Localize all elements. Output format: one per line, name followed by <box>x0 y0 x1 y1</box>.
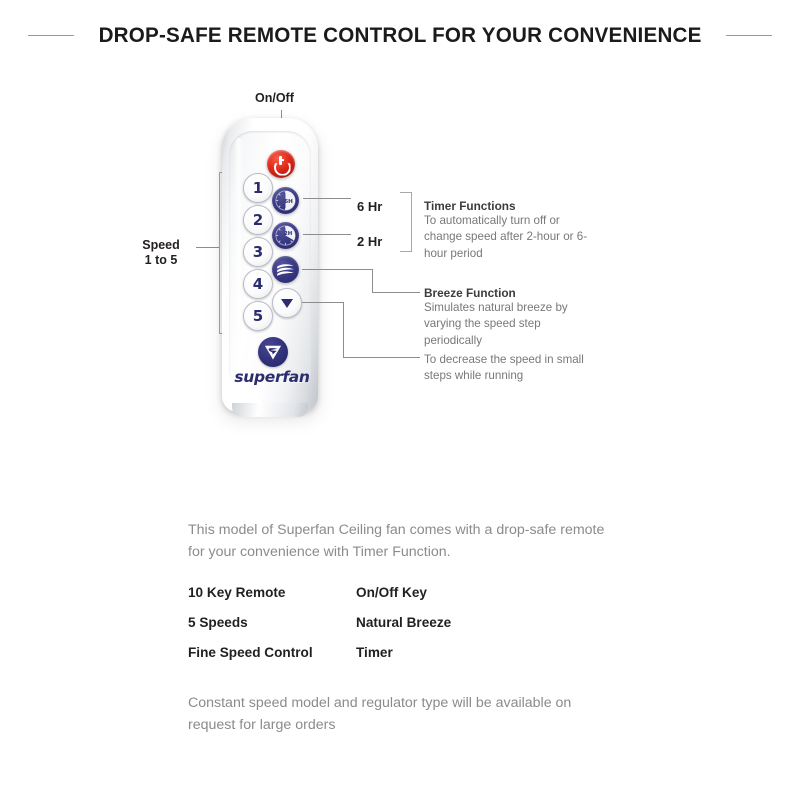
label-timer-2hr: 2 Hr <box>357 234 382 249</box>
label-timer-6hr: 6 Hr <box>357 199 382 214</box>
body-timer-functions: To automatically turn off or change spee… <box>424 213 592 262</box>
clock-2h-icon: 2H <box>275 225 296 246</box>
breeze-button[interactable] <box>272 256 299 283</box>
remote-diagram: On/Off Speed 1 to 5 1 2 3 4 5 <box>0 0 800 800</box>
speed-button-1[interactable]: 1 <box>243 173 273 203</box>
feature-list: 10 Key Remote On/Off Key 5 Speeds Natura… <box>188 585 568 660</box>
feature-left: 5 Speeds <box>188 615 356 630</box>
bracket-timer-functions <box>400 192 412 252</box>
remote-bottom-lip <box>232 403 308 417</box>
feature-row: Fine Speed Control Timer <box>188 645 568 660</box>
speed-button-4[interactable]: 4 <box>243 269 273 299</box>
leader-breeze-seg1 <box>302 269 373 270</box>
feature-left: Fine Speed Control <box>188 645 356 660</box>
clock-6h-icon: 6H <box>275 190 296 211</box>
body-decrease-speed: To decrease the speed in small steps whi… <box>424 352 604 385</box>
leader-decrease-seg1 <box>302 302 344 303</box>
callout-speed-label: Speed 1 to 5 <box>128 238 194 269</box>
leader-breeze-seg3 <box>372 292 420 293</box>
superfan-logo-text: superfan <box>224 368 320 386</box>
feature-row: 5 Speeds Natural Breeze <box>188 615 568 630</box>
leader-line-6hr <box>303 198 351 199</box>
leader-line-2hr <box>303 234 351 235</box>
callout-speed-line2: 1 to 5 <box>145 253 178 267</box>
timer-6h-button[interactable]: 6H <box>272 187 299 214</box>
leader-decrease-seg2 <box>343 302 344 357</box>
feature-row: 10 Key Remote On/Off Key <box>188 585 568 600</box>
power-button[interactable] <box>267 150 295 178</box>
speed-down-button[interactable] <box>272 288 302 318</box>
breeze-waves-icon <box>275 262 296 278</box>
leader-breeze-seg2 <box>372 269 373 292</box>
availability-note: Constant speed model and regulator type … <box>188 692 608 736</box>
timer-2h-button[interactable]: 2H <box>272 222 299 249</box>
triangle-down-icon <box>281 299 293 308</box>
superfan-logo-mark <box>258 337 288 367</box>
feature-right: On/Off Key <box>356 585 427 600</box>
svg-text:6H: 6H <box>284 199 293 205</box>
svg-text:2H: 2H <box>284 231 293 237</box>
power-icon <box>274 157 289 172</box>
body-breeze-function: Simulates natural breeze by varying the … <box>424 300 592 349</box>
leader-decrease-seg3 <box>343 357 420 358</box>
callout-on-off-label: On/Off <box>255 91 294 106</box>
feature-left: 10 Key Remote <box>188 585 356 600</box>
product-description: This model of Superfan Ceiling fan comes… <box>188 519 608 563</box>
speed-button-5[interactable]: 5 <box>243 301 273 331</box>
callout-speed-line1: Speed <box>142 238 180 252</box>
speed-button-2[interactable]: 2 <box>243 205 273 235</box>
leader-line-speed <box>196 247 220 248</box>
speed-button-3[interactable]: 3 <box>243 237 273 267</box>
feature-right: Timer <box>356 645 393 660</box>
superfan-triangle-icon <box>262 341 284 363</box>
feature-right: Natural Breeze <box>356 615 451 630</box>
